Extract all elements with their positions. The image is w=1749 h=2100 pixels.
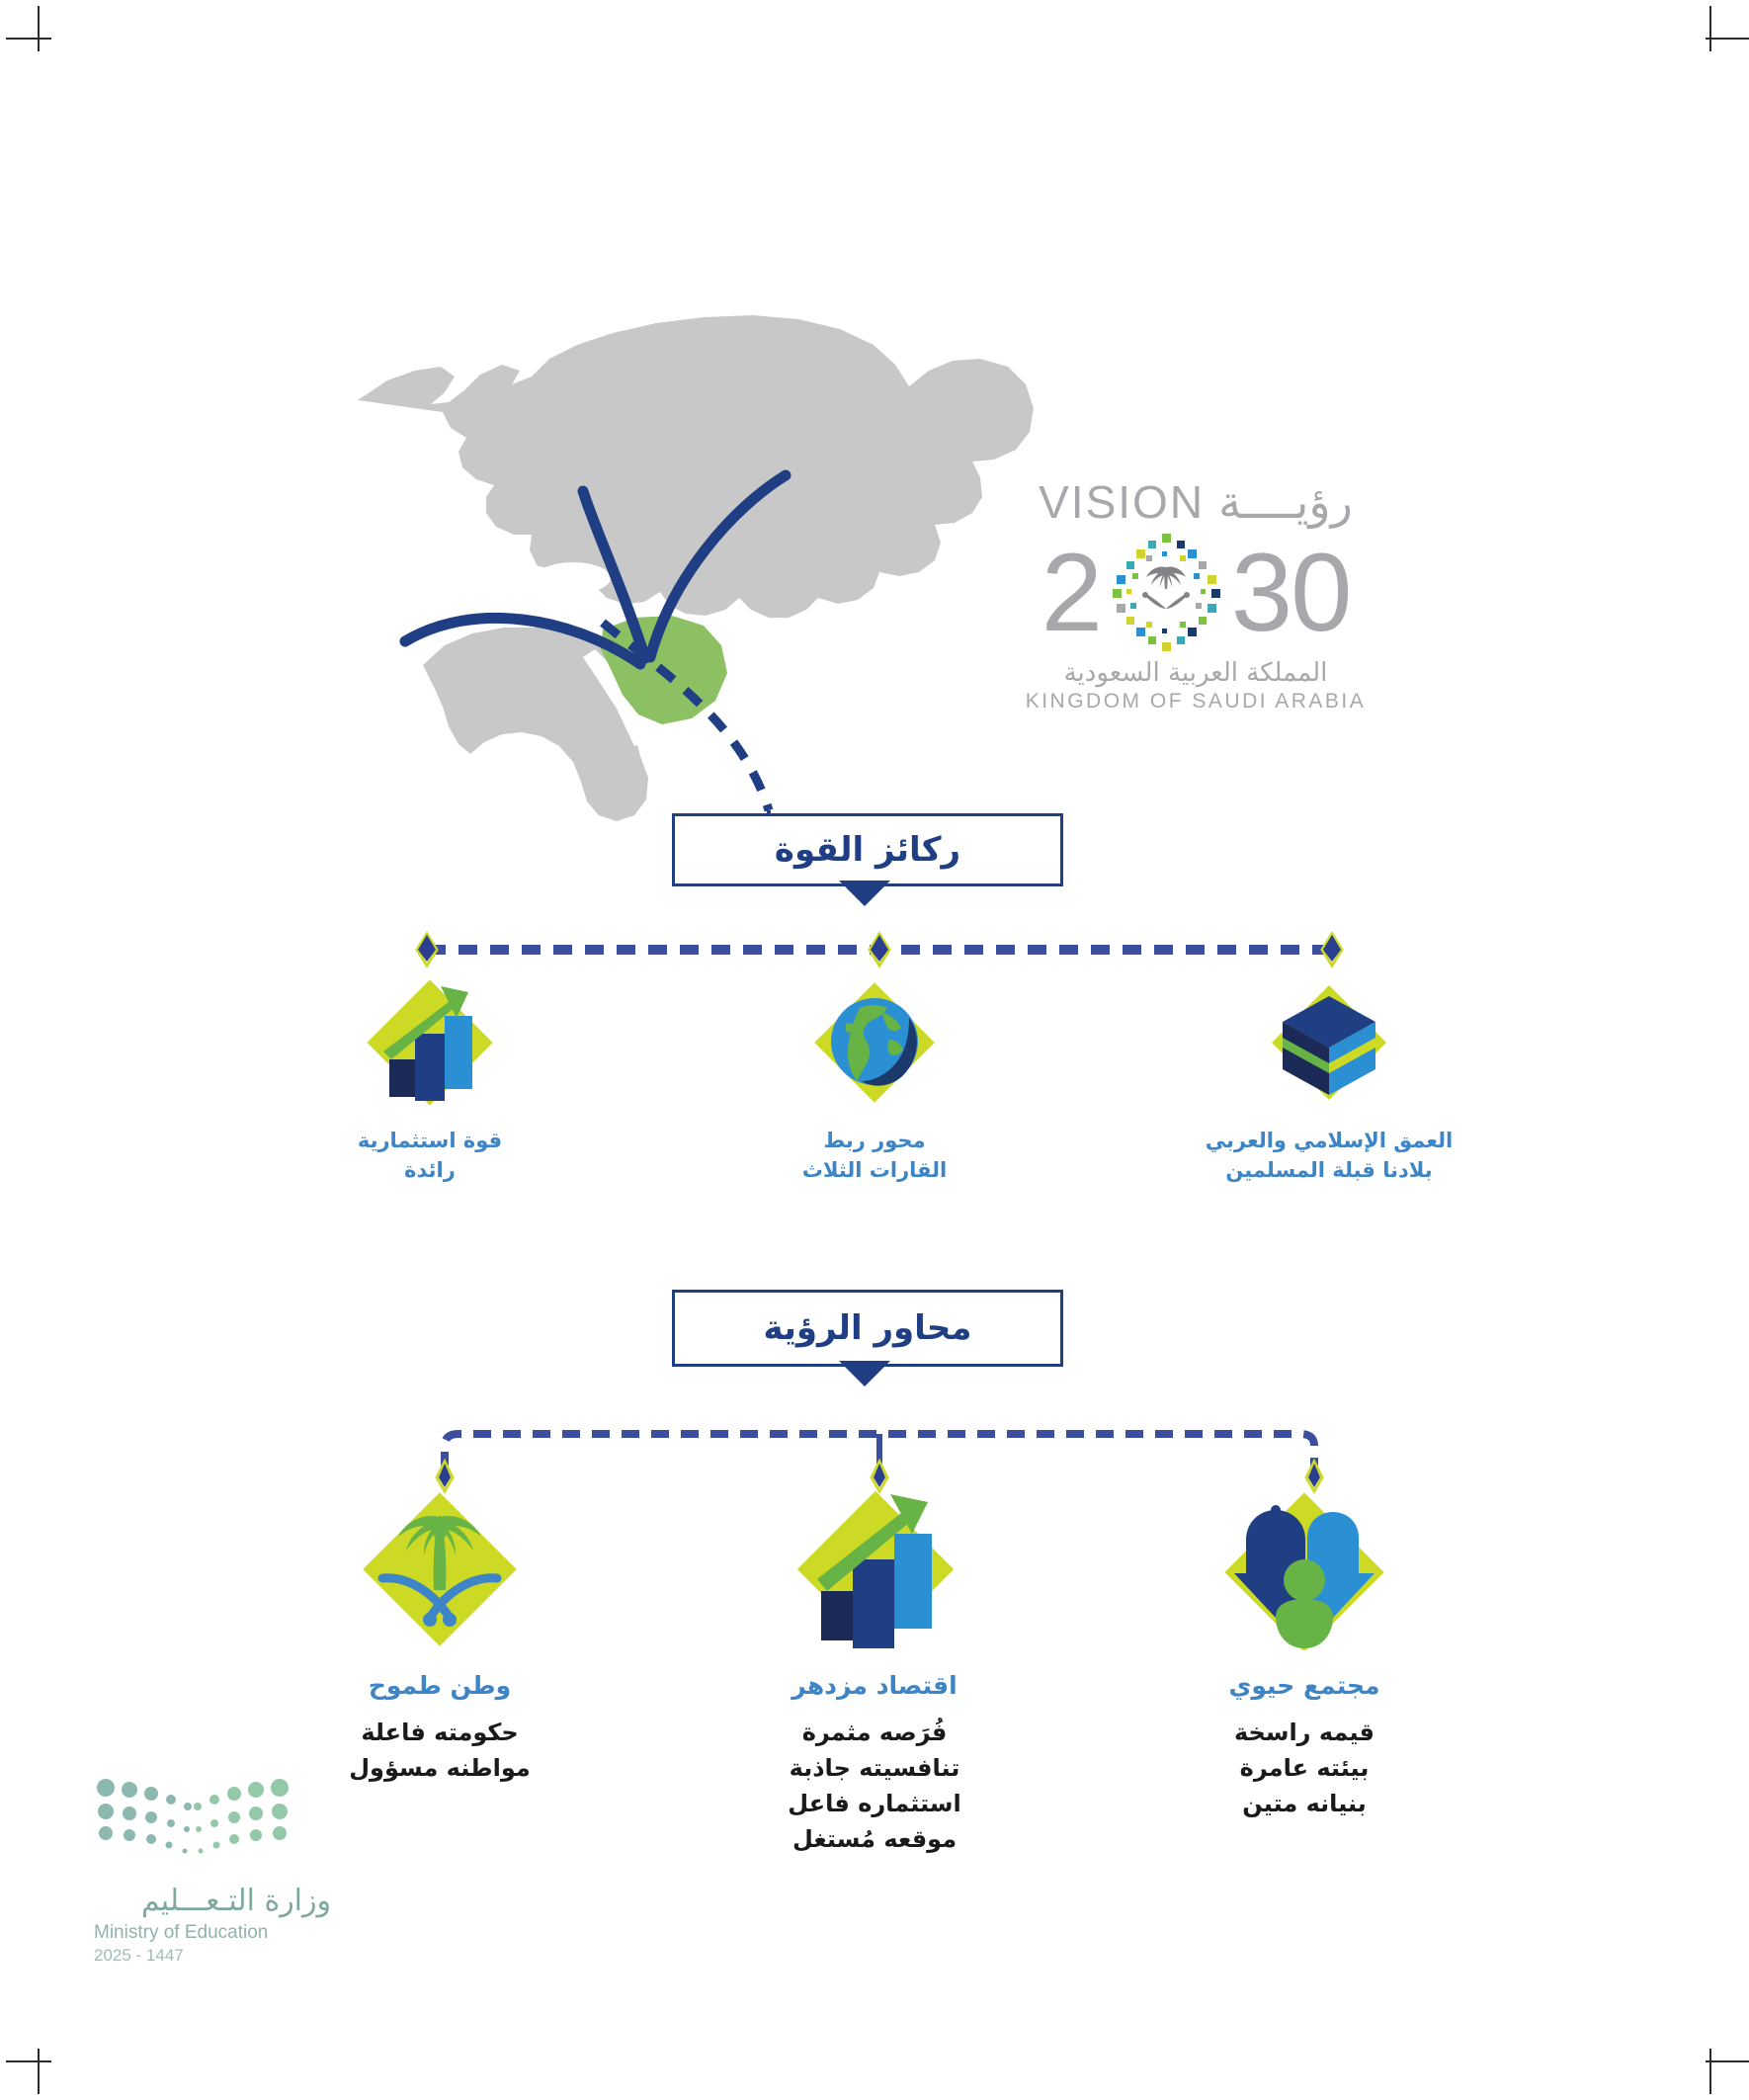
infographic-page: VISION رؤيــــة 2: [0, 0, 1749, 2100]
connector-diamond-marker: [1322, 934, 1342, 966]
ministry-of-education-logo: وزارة التـعـــليم Ministry of Education …: [94, 1774, 331, 1966]
theme-label-ambitious-nation: وطن طموح: [301, 1671, 578, 1701]
crop-mark-tl-v: [38, 6, 40, 51]
connector-diamond-marker: [417, 934, 437, 966]
pillar-label-investment: قوة استثمارية رائدة: [291, 1126, 568, 1185]
connector-diamond-marker: [870, 934, 889, 966]
pillar-item-globe: محور ربط القارات الثلاث: [736, 978, 1013, 1185]
moe-dots-logo-icon: [94, 1774, 291, 1863]
pillar-label-globe: محور ربط القارات الثلاث: [736, 1126, 1013, 1185]
kaaba-cube-icon: [1176, 978, 1482, 1112]
vision-logo-word-en: VISION: [1039, 475, 1205, 529]
crop-mark-tl-h: [6, 38, 51, 40]
vision-2030-logo: VISION رؤيــــة 2: [1008, 474, 1383, 751]
vision-logo-num-right: 30: [1231, 538, 1351, 648]
growing-economy-chart-icon: [736, 1482, 1013, 1655]
theme-item-thriving-economy: اقتصاد مزدهر فُرَصه مثمرة تنافسيته جاذبة…: [736, 1482, 1013, 1857]
pillar-item-islamic-depth: العمق الإسلامي والعربي بلادنا قبلة المسل…: [1176, 978, 1482, 1185]
section-header-pillars: ركائز القوة: [672, 813, 1063, 886]
crop-mark-br-h: [1706, 2060, 1749, 2062]
vision-2030-mosaic-emblem-icon: [1103, 530, 1229, 656]
theme-item-ambitious-nation: وطن طموح حكومته فاعلة مواطنه مسؤول: [301, 1487, 578, 1786]
vision-logo-kingdom-en: KINGDOM OF SAUDI ARABIA: [1008, 690, 1383, 714]
theme-label-vibrant-society: مجتمع حيوي: [1166, 1671, 1443, 1701]
ministry-name-ar: وزارة التـعـــليم: [94, 1884, 331, 1918]
pillar-label-islamic-depth: العمق الإسلامي والعربي بلادنا قبلة المسل…: [1176, 1126, 1482, 1185]
section-header-vision-themes-label: محاور الرؤية: [764, 1308, 972, 1348]
crop-mark-br-v: [1709, 2049, 1711, 2094]
investment-chart-icon: [291, 978, 568, 1112]
section-header-pillars-label: ركائز القوة: [775, 830, 960, 870]
theme-sublist-ambitious-nation: حكومته فاعلة مواطنه مسؤول: [301, 1715, 578, 1786]
ministry-years: 2025 - 1447: [94, 1946, 331, 1966]
theme-item-vibrant-society: مجتمع حيوي قيمه راسخة بيئته عامرة بنيانه…: [1166, 1482, 1443, 1821]
crop-mark-bl-h: [6, 2060, 51, 2062]
crop-mark-bl-v: [38, 2049, 40, 2094]
vision-logo-word-ar: رؤيــــة: [1218, 475, 1353, 529]
theme-sublist-vibrant-society: قيمه راسخة بيئته عامرة بنيانه متين: [1166, 1715, 1443, 1821]
crop-mark-tr-h: [1706, 38, 1749, 40]
theme-sublist-thriving-economy: فُرَصه مثمرة تنافسيته جاذبة استثماره فاع…: [736, 1715, 1013, 1857]
vision-logo-num-left: 2: [1041, 538, 1101, 648]
pillars-connector: [395, 929, 1364, 970]
vibrant-society-people-icon: [1166, 1482, 1443, 1655]
theme-label-thriving-economy: اقتصاد مزدهر: [736, 1671, 1013, 1701]
vision-logo-kingdom-ar: المملكة العربية السعودية: [1008, 658, 1383, 688]
palm-and-swords-emblem-icon: [301, 1487, 578, 1655]
section-header-vision-themes-arrow-icon: [839, 1361, 890, 1386]
pillar-item-investment: قوة استثمارية رائدة: [291, 978, 568, 1185]
ministry-name-en: Ministry of Education: [94, 1922, 331, 1944]
globe-icon: [736, 978, 1013, 1112]
section-header-vision-themes: محاور الرؤية: [672, 1290, 1063, 1367]
crop-mark-tr-v: [1709, 6, 1711, 51]
map-to-header-dashed-connector: [593, 613, 889, 840]
section-header-pillars-arrow-icon: [839, 881, 890, 906]
